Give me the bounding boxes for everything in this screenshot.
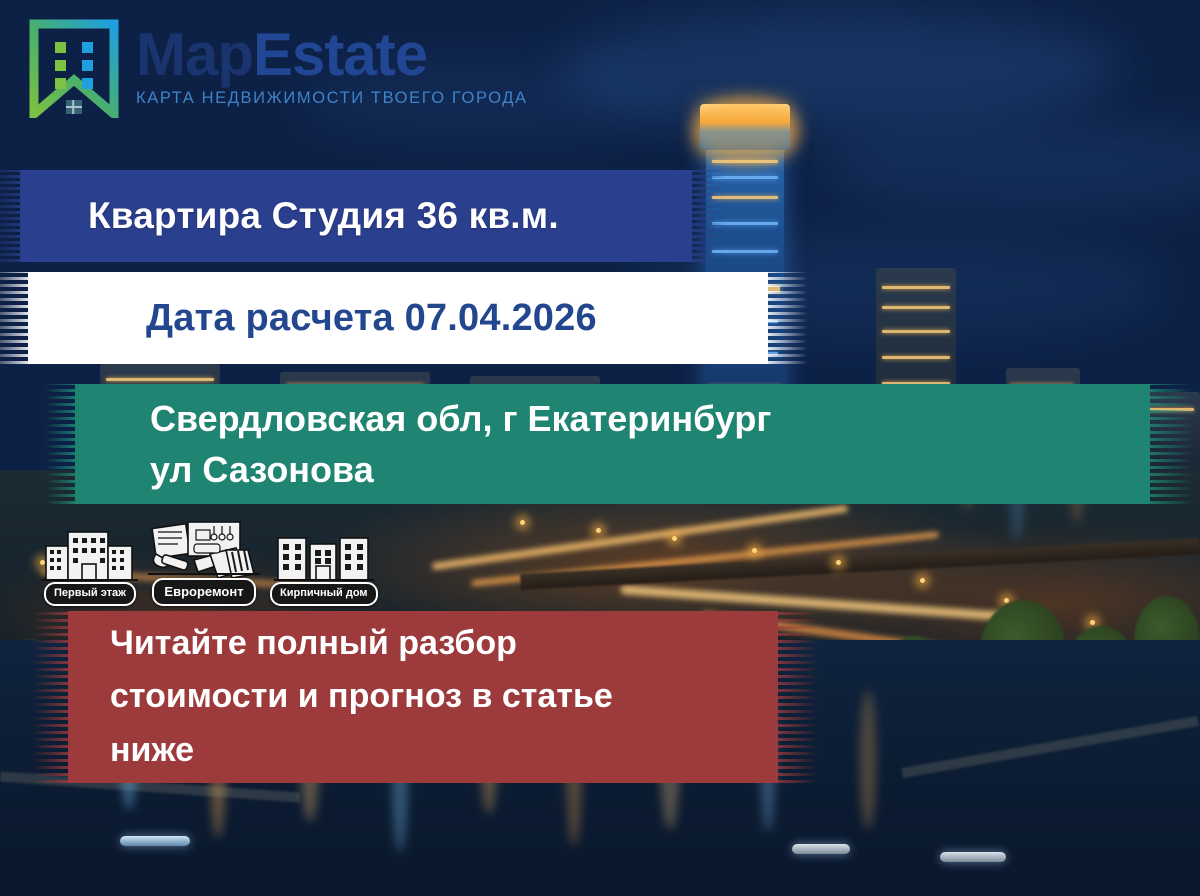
feature-badge-first-floor[interactable]: Первый этаж bbox=[42, 524, 138, 606]
brand-name-part2: Estate bbox=[253, 21, 427, 88]
window-row bbox=[712, 160, 778, 163]
address-line-1: Свердловская обл, г Екатеринбург bbox=[75, 396, 1150, 441]
street-lamp bbox=[836, 560, 841, 565]
window-row bbox=[882, 286, 950, 289]
feature-badge-renovation[interactable]: Евроремонт bbox=[148, 516, 260, 606]
window-row bbox=[882, 306, 950, 309]
brick-building-icon bbox=[274, 524, 374, 588]
window-row bbox=[712, 250, 778, 253]
feature-badge-label: Евроремонт bbox=[152, 578, 255, 606]
brand-tagline: КАРТА НЕДВИЖИМОСТИ ТВОЕГО ГОРОДА bbox=[136, 89, 528, 108]
street-lamp bbox=[596, 528, 601, 533]
street-lamp bbox=[520, 520, 525, 525]
cta-line-1: Читайте полный разбор bbox=[68, 622, 778, 666]
street-lamp bbox=[920, 578, 925, 583]
brand-logo[interactable]: MapEstate КАРТА НЕДВИЖИМОСТИ ТВОЕГО ГОРО… bbox=[26, 18, 528, 118]
address-banner: Свердловская обл, г Екатеринбург ул Сазо… bbox=[75, 384, 1150, 504]
window-row bbox=[712, 196, 778, 199]
feature-badges: Первый этаж bbox=[42, 516, 378, 606]
boat bbox=[940, 852, 1006, 862]
feature-badge-brick-house[interactable]: Кирпичный дом bbox=[270, 524, 378, 606]
address-line-2: ул Сазонова bbox=[75, 447, 1150, 492]
street-lamp bbox=[1090, 620, 1095, 625]
water-reflection bbox=[860, 690, 876, 830]
feature-badge-label: Кирпичный дом bbox=[270, 582, 378, 606]
calculation-date-banner: Дата расчета 07.04.2026 bbox=[28, 272, 768, 364]
apartment-building-icon bbox=[42, 524, 138, 588]
boat bbox=[120, 836, 190, 846]
window-row bbox=[712, 222, 778, 225]
brand-name-part1: Map bbox=[136, 21, 253, 88]
window-row bbox=[106, 378, 214, 381]
calculation-date-text: Дата расчета 07.04.2026 bbox=[28, 297, 768, 340]
window-row bbox=[712, 176, 778, 179]
brand-wordmark-block: MapEstate КАРТА НЕДВИЖИМОСТИ ТВОЕГО ГОРО… bbox=[136, 18, 528, 108]
renovation-tools-icon bbox=[148, 516, 260, 584]
feature-badge-label: Первый этаж bbox=[44, 582, 136, 606]
property-title: Квартира Студия 36 кв.м. bbox=[20, 195, 692, 237]
window-row bbox=[882, 356, 950, 359]
poster-canvas: MapEstate КАРТА НЕДВИЖИМОСТИ ТВОЕГО ГОРО… bbox=[0, 0, 1200, 896]
property-banner: Квартира Студия 36 кв.м. bbox=[20, 170, 692, 262]
window-row bbox=[882, 330, 950, 333]
bookmark-building-icon bbox=[26, 18, 122, 118]
tower-glow bbox=[692, 96, 800, 166]
street-lamp bbox=[752, 548, 757, 553]
street-lamp bbox=[672, 536, 677, 541]
cta-banner: Читайте полный разбор стоимости и прогно… bbox=[68, 611, 778, 783]
cta-line-2: стоимости и прогноз в статье bbox=[68, 675, 778, 719]
boat bbox=[792, 844, 850, 854]
cta-line-3: ниже bbox=[68, 729, 778, 773]
brand-wordmark: MapEstate bbox=[136, 26, 528, 83]
